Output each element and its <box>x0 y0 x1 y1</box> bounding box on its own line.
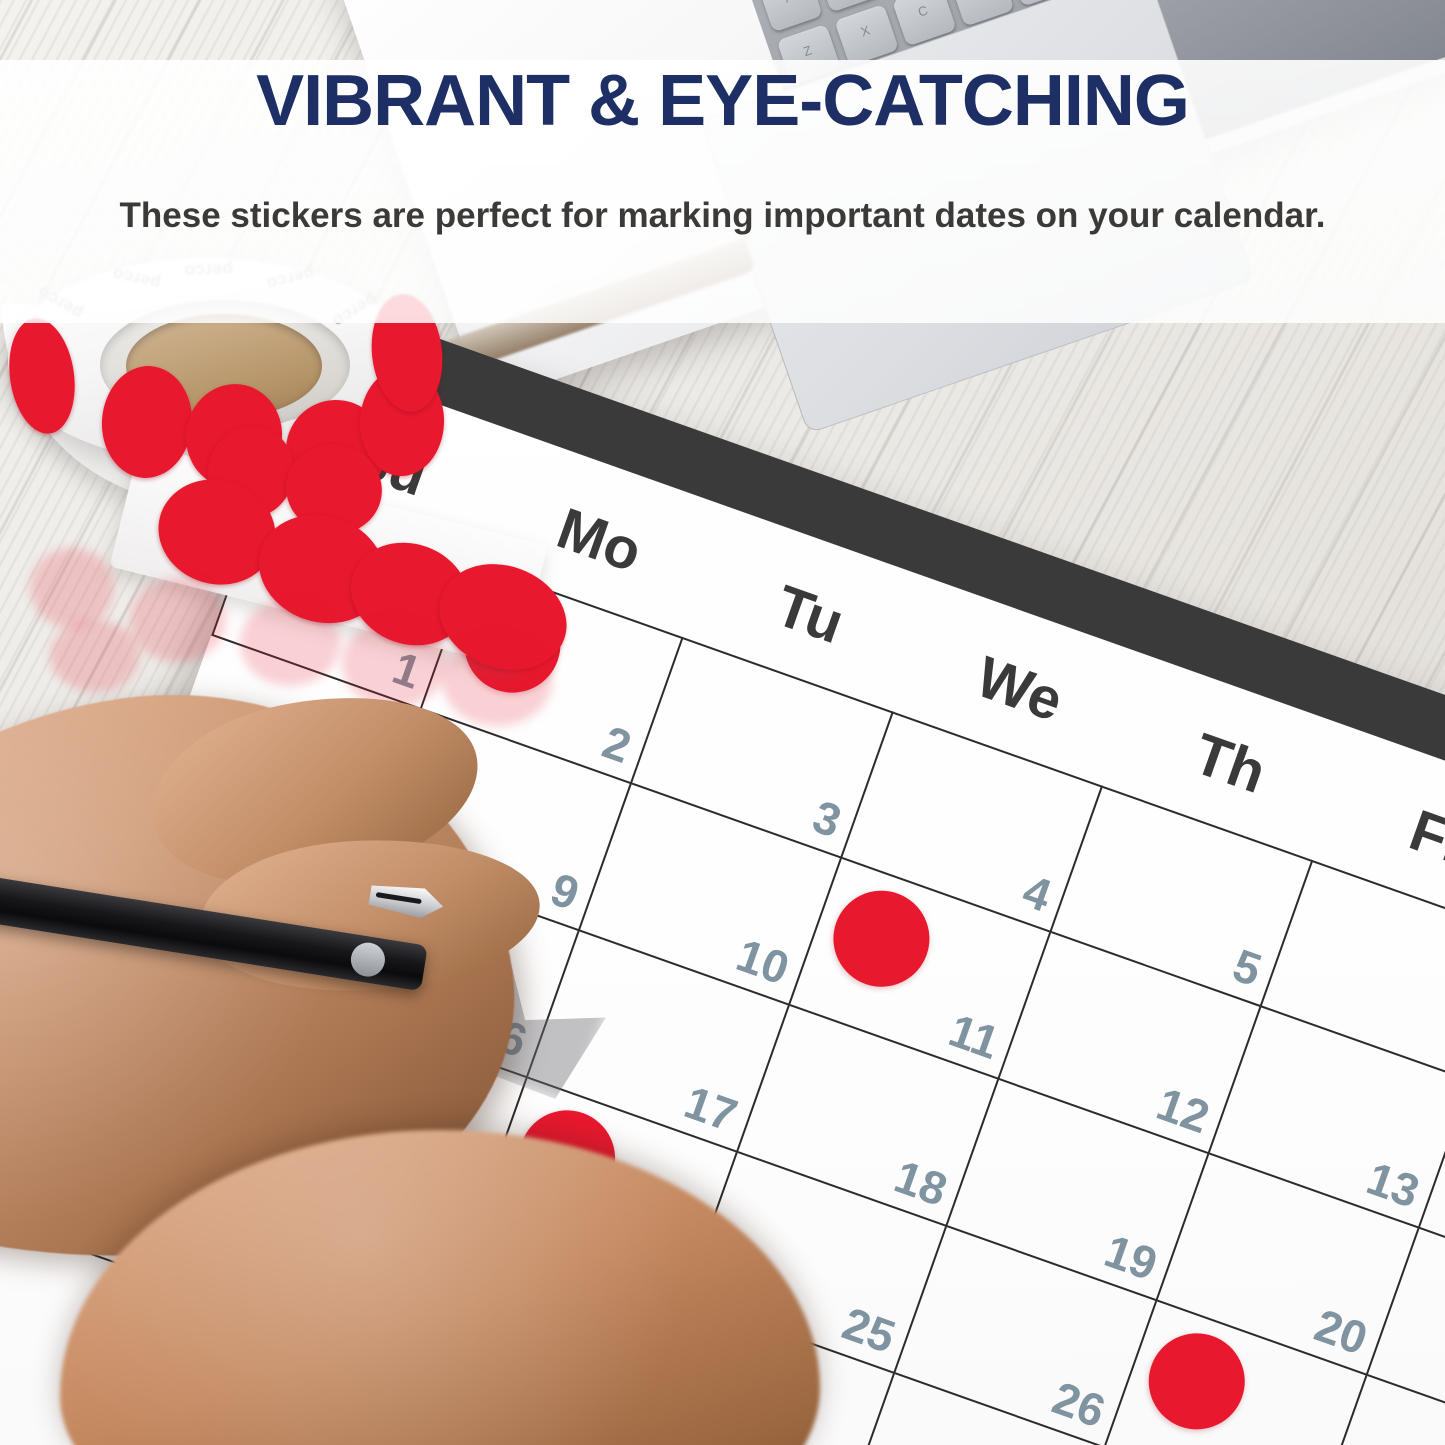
key-label: A <box>762 0 816 12</box>
calendar-date-number: 20 <box>1308 1298 1374 1366</box>
calendar-date-number: 19 <box>1098 1223 1164 1291</box>
red-dot-sticker <box>820 877 943 1000</box>
calendar-date-number: 5 <box>1226 938 1268 997</box>
calendar-date-number: 11 <box>942 1003 1006 1070</box>
calendar-date-number: 2 <box>596 715 638 774</box>
key-label: C <box>896 0 950 27</box>
page-subtitle: These stickers are perfect for marking i… <box>0 196 1445 236</box>
key-label: X <box>838 15 892 46</box>
calendar-date-number: 12 <box>1150 1076 1216 1144</box>
calendar-date-number: 9 <box>544 862 586 921</box>
calendar-date-number: 10 <box>730 927 796 995</box>
calendar-date-number: 17 <box>678 1075 744 1143</box>
calendar-date-number: 26 <box>1046 1370 1112 1438</box>
sticker-reflection <box>240 600 340 686</box>
calendar-date-number: 25 <box>836 1296 902 1364</box>
red-dot-sticker <box>1136 1320 1259 1443</box>
pen-metal-ring <box>348 940 387 979</box>
calendar-date-number: 13 <box>1360 1151 1426 1219</box>
calendar-date-number: 6 <box>1436 1012 1445 1071</box>
key-label: V <box>954 0 1008 7</box>
calendar-date-number: 18 <box>888 1149 954 1217</box>
sticker-reflection <box>30 548 114 628</box>
sticker-reflection <box>50 620 140 692</box>
sticker-reflection <box>442 636 552 726</box>
product-marketing-image: escF1F2F3F4F5F6F7F8F9F10~1234567890QWERT… <box>0 0 1445 1445</box>
sticker-reflection <box>130 578 226 662</box>
calendar-date-number: 4 <box>1016 863 1058 922</box>
page-title: VIBRANT & EYE-CATCHING <box>0 60 1445 142</box>
calendar-date-number: 3 <box>806 789 848 848</box>
sticker-reflection <box>342 620 446 708</box>
